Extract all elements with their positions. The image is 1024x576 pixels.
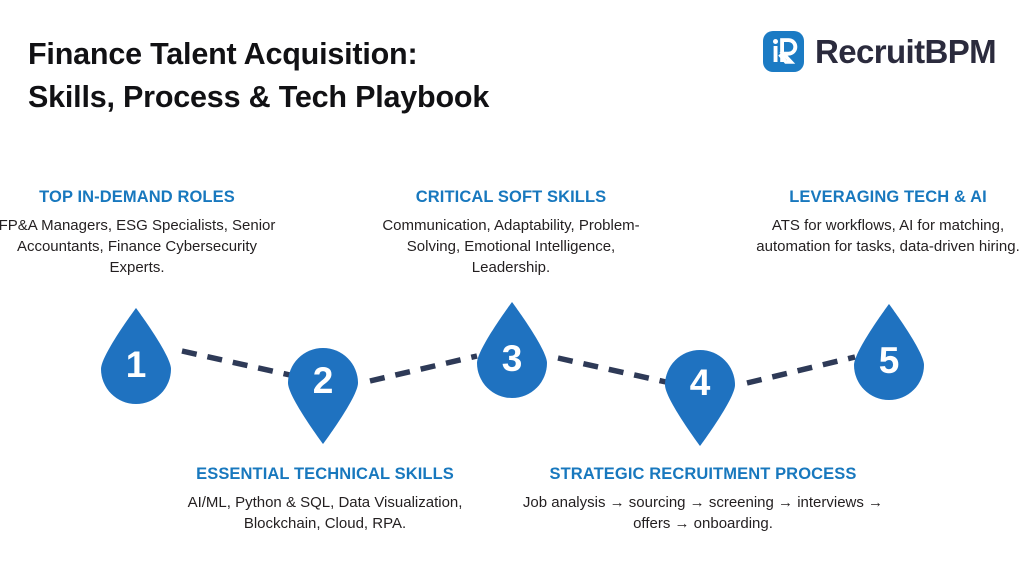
- step-5-heading: LEVERAGING TECH & AI: [752, 188, 1024, 208]
- step-pin-3-number: 3: [471, 340, 553, 377]
- connector-3-4: [558, 358, 666, 382]
- step-3-heading: CRITICAL SOFT SKILLS: [375, 188, 647, 208]
- step-block-3: CRITICAL SOFT SKILLS Communication, Adap…: [375, 188, 647, 279]
- step-pin-1[interactable]: 1: [95, 306, 177, 410]
- step-3-body: Communication, Adaptability, Problem-Sol…: [375, 215, 647, 279]
- step-pin-3[interactable]: 3: [471, 300, 553, 404]
- step-pin-4-number: 4: [659, 364, 741, 401]
- step-1-heading: TOP IN-DEMAND ROLES: [0, 188, 281, 208]
- step-2-heading: ESSENTIAL TECHNICAL SKILLS: [155, 465, 495, 485]
- connector-1-2: [182, 351, 290, 375]
- step-4-heading: STRATEGIC RECRUITMENT PROCESS: [505, 465, 901, 485]
- step-5-body: ATS for workflows, AI for matching, auto…: [752, 215, 1024, 258]
- step-block-5: LEVERAGING TECH & AI ATS for workflows, …: [752, 188, 1024, 257]
- step-pin-5-number: 5: [848, 342, 930, 379]
- step-2-body: AI/ML, Python & SQL, Data Visualization,…: [155, 492, 495, 535]
- step-block-1: TOP IN-DEMAND ROLES FP&A Managers, ESG S…: [0, 188, 281, 279]
- connector-2-3: [370, 356, 477, 381]
- step-1-body: FP&A Managers, ESG Specialists, Senior A…: [0, 215, 281, 279]
- step-block-4: STRATEGIC RECRUITMENT PROCESS Job analys…: [505, 465, 901, 534]
- step-pin-4[interactable]: 4: [659, 344, 741, 448]
- step-pin-1-number: 1: [95, 346, 177, 383]
- connector-4-5: [747, 357, 855, 383]
- infographic-canvas: Finance Talent Acquisition: Skills, Proc…: [0, 0, 1024, 576]
- step-pin-2[interactable]: 2: [282, 342, 364, 446]
- step-block-2: ESSENTIAL TECHNICAL SKILLS AI/ML, Python…: [155, 465, 495, 534]
- step-4-body: Job analysis → sourcing → screening → in…: [505, 492, 901, 535]
- step-pin-2-number: 2: [282, 362, 364, 399]
- step-pin-5[interactable]: 5: [848, 302, 930, 406]
